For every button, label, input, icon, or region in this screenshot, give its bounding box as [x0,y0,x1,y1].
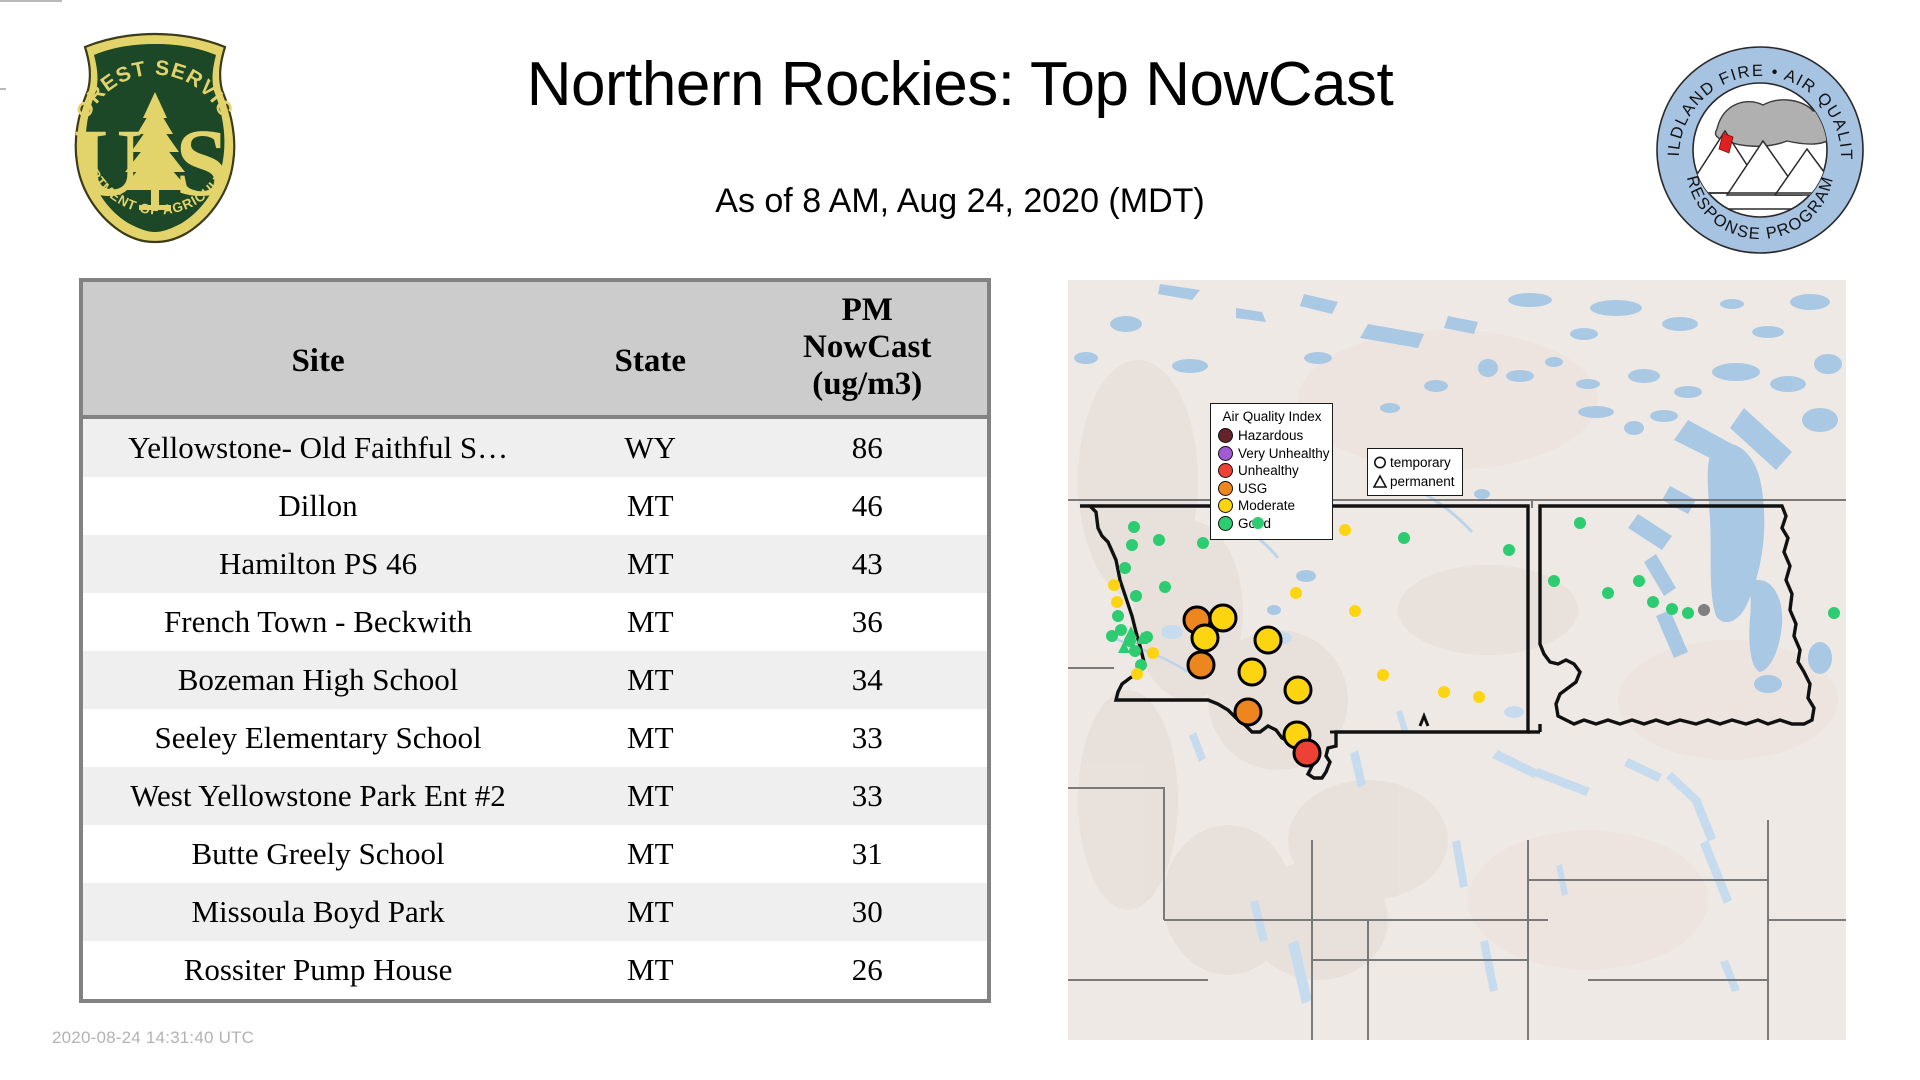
table-header-row: Site State PM NowCast (ug/m3) [83,282,987,417]
state-cell: MT [553,941,747,999]
column-header-site: Site [83,282,553,417]
aqi-legend-row: Very Unhealthy [1218,445,1326,463]
monitor-marker[interactable] [1602,587,1614,599]
aqi-legend-swatch [1218,446,1233,461]
monitor-marker[interactable] [1473,691,1485,703]
monitor-marker[interactable] [1349,605,1361,617]
monitor-marker[interactable] [1153,534,1165,546]
basemap-terrain [1068,280,1846,1040]
aqi-legend-swatch [1218,463,1233,478]
aqi-legend: Air Quality Index HazardousVery Unhealth… [1210,403,1333,540]
state-cell: MT [553,767,747,825]
monitor-marker[interactable] [1633,575,1645,587]
table-row[interactable]: Butte Greely SchoolMT31 [83,825,987,883]
pm-nowcast-cell: 30 [747,883,987,941]
aqi-legend-swatch [1218,428,1233,443]
monitor-marker[interactable] [1503,544,1515,556]
aqi-legend-label: USG [1238,481,1267,496]
state-cell: MT [553,883,747,941]
pm-nowcast-cell: 31 [747,825,987,883]
state-cell: MT [553,593,747,651]
monitor-marker[interactable] [1548,575,1560,587]
monitor-marker[interactable] [1126,539,1138,551]
pm-nowcast-cell: 36 [747,593,987,651]
monitor-marker-permanent[interactable] [1135,631,1149,645]
aqi-legend-swatch [1218,498,1233,513]
column-header-state: State [553,282,747,417]
monitor-marker[interactable] [1666,603,1678,615]
column-header-pm-nowcast: PM NowCast (ug/m3) [747,282,987,417]
usfs-letter-u: U [73,109,142,216]
aqi-legend-row: Good [1218,515,1326,533]
aqi-legend-row: USG [1218,480,1326,498]
site-type-permanent-row: permanent [1373,472,1458,491]
site-type-temporary-row: temporary [1373,453,1458,472]
monitor-marker-top-site[interactable] [1284,676,1313,705]
site-cell: Butte Greely School [83,825,553,883]
state-cell: MT [553,477,747,535]
aqi-legend-row: Moderate [1218,497,1326,515]
pm-nowcast-cell: 43 [747,535,987,593]
monitor-marker-top-site[interactable] [1234,698,1263,727]
aqi-legend-row: Hazardous [1218,427,1326,445]
table-row[interactable]: Hamilton PS 46MT43 [83,535,987,593]
monitor-marker[interactable] [1647,596,1659,608]
monitor-marker-top-site[interactable] [1293,739,1322,768]
monitor-marker[interactable] [1828,607,1840,619]
table-row[interactable]: Seeley Elementary SchoolMT33 [83,709,987,767]
monitor-marker-permanent[interactable] [1117,640,1131,654]
aqi-legend-swatch [1218,481,1233,496]
us-forest-service-logo: FOREST SERVICE DEPARTMENT OF AGRICULTURE… [55,30,255,245]
generated-timestamp: 2020-08-24 14:31:40 UTC [52,1028,254,1048]
monitor-marker[interactable] [1252,517,1264,529]
slide-edge-mark-middle [0,88,6,90]
top-nowcast-table: Site State PM NowCast (ug/m3) Yellowston… [83,282,987,999]
site-cell: West Yellowstone Park Ent #2 [83,767,553,825]
site-cell: Hamilton PS 46 [83,535,553,593]
state-cell: MT [553,651,747,709]
monitor-marker[interactable] [1197,537,1209,549]
state-cell: MT [553,825,747,883]
table-row[interactable]: Missoula Boyd ParkMT30 [83,883,987,941]
page-subtitle: As of 8 AM, Aug 24, 2020 (MDT) [300,182,1620,221]
aqi-legend-label: Hazardous [1238,428,1303,443]
aqi-legend-rows: HazardousVery UnhealthyUnhealthyUSGModer… [1218,427,1326,532]
table-row[interactable]: Bozeman High SchoolMT34 [83,651,987,709]
permanent-triangle-icon [1373,474,1387,489]
pm-nowcast-cell: 33 [747,767,987,825]
monitor-marker[interactable] [1130,590,1142,602]
site-cell: Dillon [83,477,553,535]
monitor-marker-top-site[interactable] [1191,624,1220,653]
table-header: Site State PM NowCast (ug/m3) [83,282,987,417]
monitor-marker[interactable] [1682,607,1694,619]
pm-nowcast-cell: 26 [747,941,987,999]
site-cell: Yellowstone- Old Faithful S… [83,417,553,477]
pm-nowcast-cell: 34 [747,651,987,709]
monitor-marker[interactable] [1131,668,1143,680]
column-header-pm-line3: (ug/m3) [747,366,987,403]
site-cell: French Town - Beckwith [83,593,553,651]
monitor-marker[interactable] [1339,524,1351,536]
monitor-marker[interactable] [1108,579,1120,591]
monitor-marker[interactable] [1128,521,1140,533]
monitor-marker[interactable] [1159,581,1171,593]
aqi-legend-swatch [1218,516,1233,531]
top-nowcast-table-container: Site State PM NowCast (ug/m3) Yellowston… [79,278,991,1003]
site-cell: Missoula Boyd Park [83,883,553,941]
site-cell: Rossiter Pump House [83,941,553,999]
monitor-marker-top-site[interactable] [1187,651,1216,680]
wfaqrp-logo: WILDLAND FIRE • AIR QUALITY RESPONSE PRO… [1655,45,1865,255]
table-row[interactable]: Yellowstone- Old Faithful S…WY86 [83,417,987,477]
table-row[interactable]: DillonMT46 [83,477,987,535]
site-type-legend: temporary permanent [1367,448,1463,496]
monitor-marker[interactable] [1147,647,1159,659]
pm-nowcast-cell: 46 [747,477,987,535]
state-cell: WY [553,417,747,477]
monitor-marker[interactable] [1438,686,1450,698]
table-row[interactable]: Rossiter Pump HouseMT26 [83,941,987,999]
usfs-letter-s: S [175,109,228,216]
monitor-marker-top-site[interactable] [1238,658,1267,687]
column-header-pm-line1: PM [747,292,987,329]
monitor-marker[interactable] [1112,610,1124,622]
column-header-pm-line2: NowCast [747,329,987,366]
aqi-legend-label: Very Unhealthy [1238,446,1330,461]
monitor-marker[interactable] [1119,562,1131,574]
monitor-marker[interactable] [1377,669,1389,681]
state-cell: MT [553,535,747,593]
monitor-marker[interactable] [1574,517,1586,529]
temporary-circle-icon [1373,455,1387,470]
aqi-legend-title: Air Quality Index [1218,409,1326,424]
site-cell: Seeley Elementary School [83,709,553,767]
site-type-permanent-label: permanent [1390,474,1455,489]
monitor-marker[interactable] [1111,596,1123,608]
aqi-legend-label: Moderate [1238,498,1295,513]
pm-nowcast-cell: 33 [747,709,987,767]
air-quality-monitor-map[interactable]: Air Quality Index HazardousVery Unhealth… [1068,280,1846,1040]
monitor-marker[interactable] [1290,587,1302,599]
table-row[interactable]: French Town - BeckwithMT36 [83,593,987,651]
monitor-marker[interactable] [1698,604,1710,616]
slide-edge-mark-top [0,0,62,2]
table-body: Yellowstone- Old Faithful S…WY86DillonMT… [83,417,987,999]
aqi-legend-row: Unhealthy [1218,462,1326,480]
pm-nowcast-cell: 86 [747,417,987,477]
page-title: Northern Rockies: Top NowCast [300,52,1620,117]
aqi-legend-label: Unhealthy [1238,463,1299,478]
monitor-marker[interactable] [1398,532,1410,544]
table-row[interactable]: West Yellowstone Park Ent #2MT33 [83,767,987,825]
monitor-marker-top-site[interactable] [1254,626,1283,655]
state-cell: MT [553,709,747,767]
site-cell: Bozeman High School [83,651,553,709]
site-type-temporary-label: temporary [1390,455,1451,470]
